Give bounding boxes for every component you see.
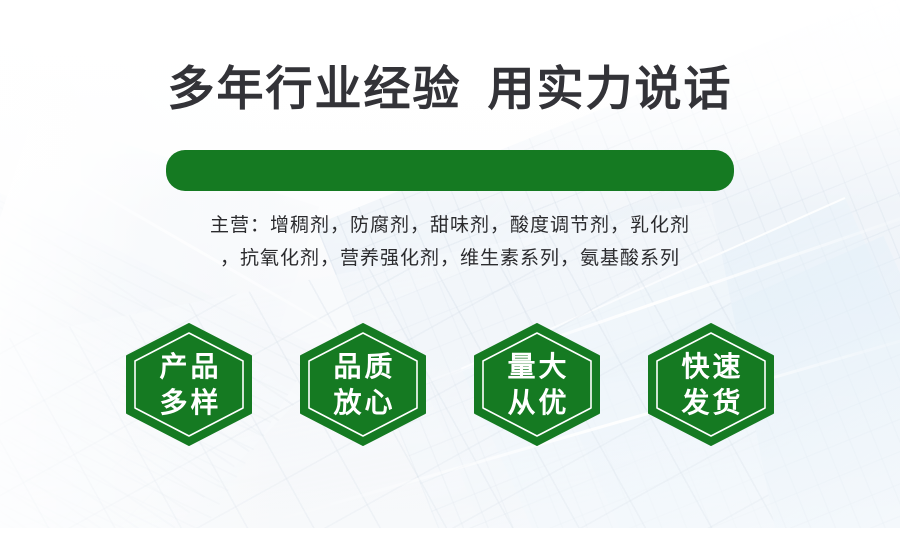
feature-badge-quality-assurance[interactable]: 品质 放心 bbox=[299, 322, 427, 447]
product-categories-line-1: 主营：增稠剂，防腐剂，甜味剂，酸度调节剂，乳化剂 bbox=[0, 209, 900, 242]
headline-part-1: 多年行业经验 bbox=[168, 62, 462, 117]
headline-part-2: 用实力说话 bbox=[488, 62, 733, 117]
green-highlight-bar bbox=[166, 150, 734, 191]
feature-badge-product-variety[interactable]: 产品 多样 bbox=[125, 322, 253, 447]
feature-badge-bulk-discount[interactable]: 量大 从优 bbox=[473, 322, 601, 447]
product-categories-line-2: ，抗氧化剂，营养强化剂，维生素系列，氨基酸系列 bbox=[0, 242, 900, 275]
feature-badge-row: 产品 多样 品质 放心 量大 bbox=[0, 322, 900, 447]
hexagon-icon bbox=[473, 322, 601, 447]
promo-banner: 多年行业经验用实力说话 主营：增稠剂，防腐剂，甜味剂，酸度调节剂，乳化剂 ，抗氧… bbox=[0, 0, 900, 536]
hexagon-icon bbox=[299, 322, 427, 447]
banner-content: 多年行业经验用实力说话 主营：增稠剂，防腐剂，甜味剂，酸度调节剂，乳化剂 ，抗氧… bbox=[0, 0, 900, 536]
product-categories-text: 主营：增稠剂，防腐剂，甜味剂，酸度调节剂，乳化剂 ，抗氧化剂，营养强化剂，维生素… bbox=[0, 209, 900, 275]
hexagon-icon bbox=[647, 322, 775, 447]
feature-badge-fast-shipping[interactable]: 快速 发货 bbox=[647, 322, 775, 447]
hexagon-icon bbox=[125, 322, 253, 447]
banner-headline: 多年行业经验用实力说话 bbox=[0, 66, 900, 113]
